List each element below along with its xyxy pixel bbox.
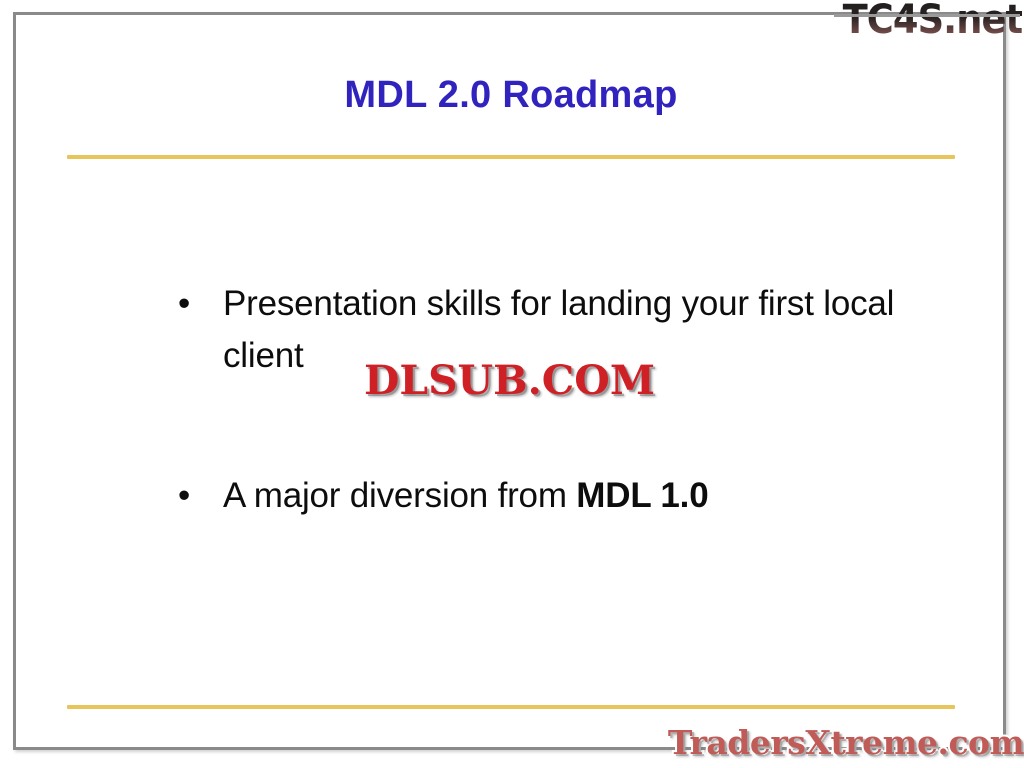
divider-line-top	[67, 155, 955, 159]
presentation-slide: MDL 2.0 Roadmap • Presentation skills fo…	[0, 0, 1024, 768]
watermark-dlsub: DLSUB.COM	[364, 358, 655, 404]
bullet-text-emphasis: MDL 1.0	[576, 476, 708, 515]
watermark-tc4s: TC4S.net	[842, 0, 1022, 42]
watermark-tradersxtreme: TradersXtreme.com	[668, 724, 1024, 762]
bullet-item: • A major diversion from MDL 1.0	[165, 470, 925, 522]
divider-line-bottom	[67, 705, 955, 709]
bullet-text: A major diversion from	[223, 476, 576, 515]
bullet-marker-icon: •	[178, 278, 190, 330]
bullet-marker-icon: •	[178, 470, 190, 522]
slide-title: MDL 2.0 Roadmap	[67, 74, 955, 117]
watermark-tc4s-strike-line	[834, 14, 1020, 17]
